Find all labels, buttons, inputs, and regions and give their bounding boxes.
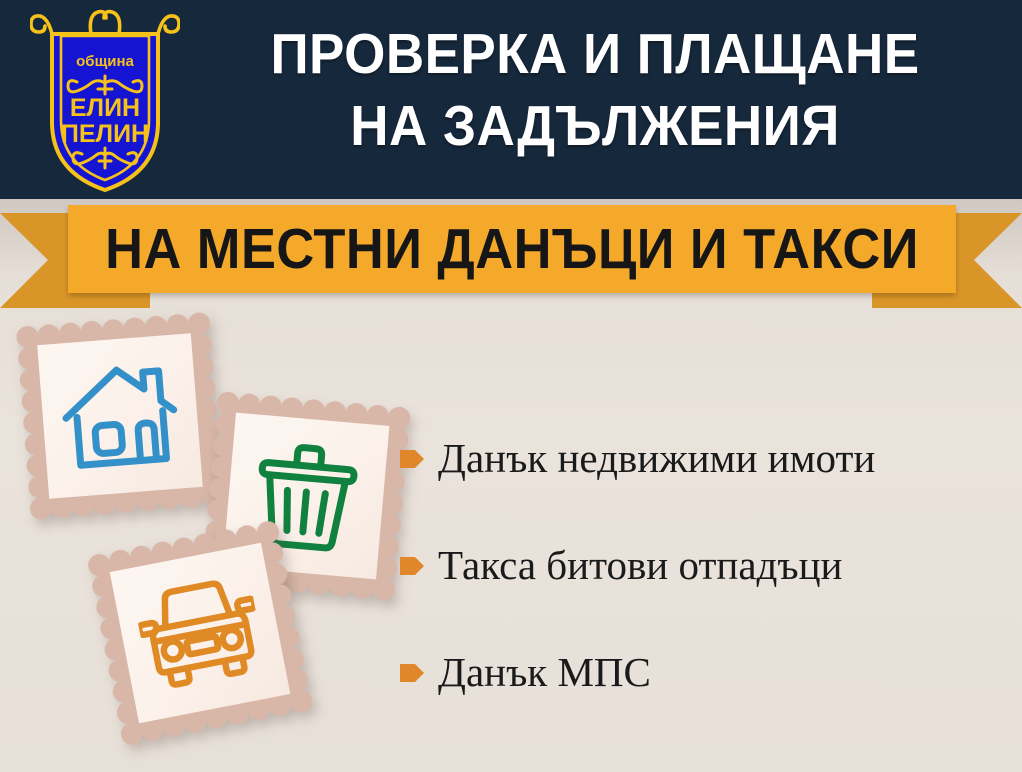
coat-of-arms-logo: община ЕЛИН ПЕЛИН xyxy=(30,4,180,194)
logo-text-pelin: ПЕЛИН xyxy=(61,120,149,148)
page-title-line-1: ПРОВЕРКА И ПЛАЩАНЕ xyxy=(270,22,919,86)
list-item-label: Данък недвижими имоти xyxy=(438,434,875,482)
subtitle-ribbon: НА МЕСТНИ ДАНЪЦИ И ТАКСИ xyxy=(0,205,1022,310)
ribbon-body: НА МЕСТНИ ДАНЪЦИ И ТАКСИ xyxy=(68,205,956,293)
header-band: община ЕЛИН ПЕЛИН ПРОВЕРКА И ПЛАЩАНЕ НА … xyxy=(0,0,1022,199)
list-item[interactable]: Такса битови отпадъци xyxy=(398,537,1018,592)
tax-type-list: Данък недвижими имоти Такса битови отпад… xyxy=(398,430,1018,751)
house-icon xyxy=(37,333,203,499)
pennant-bullet-icon xyxy=(398,446,426,472)
poster-canvas: община ЕЛИН ПЕЛИН ПРОВЕРКА И ПЛАЩАНЕ НА … xyxy=(0,0,1022,772)
list-item[interactable]: Данък МПС xyxy=(398,644,1018,699)
logo-text-elin: ЕЛИН xyxy=(70,94,140,122)
list-item-label: Данък МПС xyxy=(438,648,651,696)
page-title-line-2: НА ЗАДЪЛЖЕНИЯ xyxy=(204,90,985,162)
pennant-bullet-icon xyxy=(398,660,426,686)
ribbon-label: НА МЕСТНИ ДАНЪЦИ И ТАКСИ xyxy=(104,205,921,293)
page-title: ПРОВЕРКА И ПЛАЩАНЕ НА ЗАДЪЛЖЕНИЯ xyxy=(204,18,985,162)
stamp-card-house xyxy=(15,311,226,522)
list-item[interactable]: Данък недвижими имоти xyxy=(398,430,1018,485)
car-icon xyxy=(110,543,291,724)
pennant-bullet-icon xyxy=(398,553,426,579)
stamp-card-car xyxy=(85,518,315,748)
list-item-label: Такса битови отпадъци xyxy=(438,541,842,589)
logo-text-obshtina: община xyxy=(76,53,134,70)
